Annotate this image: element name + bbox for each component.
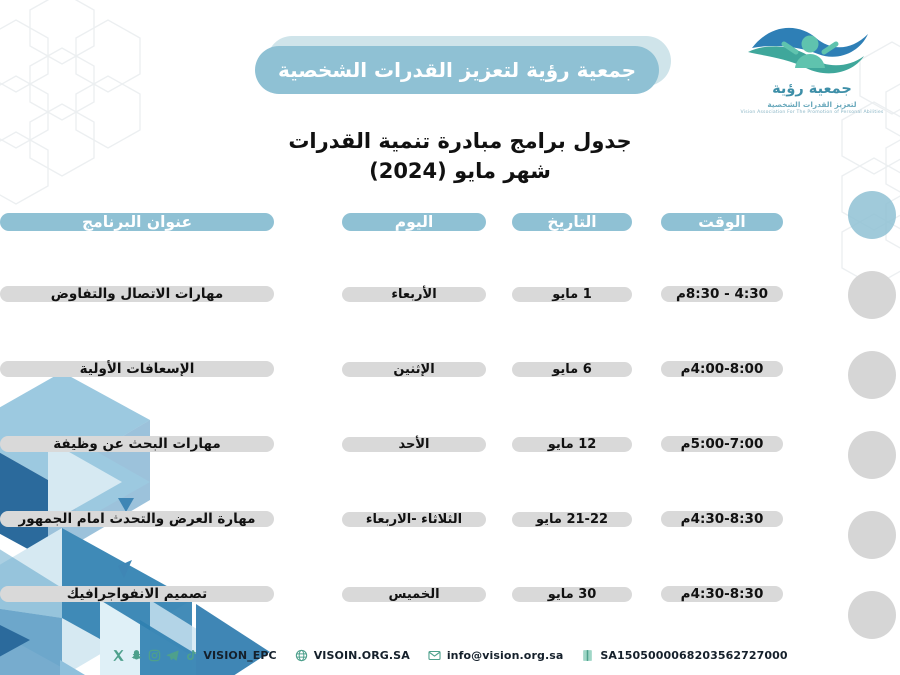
page-title-line1: جدول برامج مبادرة تنمية القدرات (160, 126, 760, 156)
cell-program: الإسعافات الأولية (0, 361, 274, 377)
hexagon-pattern-left (0, 0, 140, 204)
page-title-line2: شهر مايو (2024) (160, 156, 760, 186)
table-row: تصميم الانفواجرافيك الخميس 30 مايو 4:30-… (0, 568, 900, 620)
snapchat-icon[interactable] (130, 649, 143, 662)
cell-time: 5:00-7:00م (661, 436, 783, 452)
envelope-icon (428, 649, 441, 662)
column-header-day: اليوم (342, 213, 486, 231)
column-header-program: عنوان البرنامج (0, 213, 274, 231)
cell-program: مهارات الاتصال والتفاوض (0, 286, 274, 302)
social-group: VISION_EPC (112, 649, 276, 662)
cell-date: 12 مايو (512, 437, 632, 452)
logo-tagline-en: Vision Association For The Promotion of … (738, 110, 886, 116)
cell-date: 1 مايو (512, 287, 632, 302)
cell-time: 4:30 - 8:30م (661, 286, 783, 302)
vision-logo: جمعية رؤية لتعزيز القدرات الشخصية Vision… (738, 18, 886, 122)
cell-date: 21-22 مايو (512, 512, 632, 527)
globe-icon (295, 649, 308, 662)
cell-day: الإثنين (342, 362, 486, 377)
cell-date: 30 مايو (512, 587, 632, 602)
cell-time: 4:30-8:30م (661, 586, 783, 602)
cell-day: الأحد (342, 437, 486, 452)
cell-program: مهارة العرض والتحدث امام الجمهور (0, 511, 274, 527)
table-header-row: عنوان البرنامج اليوم التاريخ الوقت (0, 202, 900, 242)
cell-program: مهارات البحث عن وظيفة (0, 436, 274, 452)
table-row: مهارات البحث عن وظيفة الأحد 12 مايو 5:00… (0, 418, 900, 470)
iban-group: SA1505000068203562727000 (581, 649, 787, 662)
table-row: الإسعافات الأولية الإثنين 6 مايو 4:00-8:… (0, 343, 900, 395)
cell-day: الأربعاء (342, 287, 486, 302)
iban-text: SA1505000068203562727000 (600, 649, 787, 662)
website-text: VISOIN.ORG.SA (314, 649, 410, 662)
social-icons (112, 649, 197, 662)
logo-name-ar: جمعية رؤية (738, 81, 886, 98)
schedule-table: عنوان البرنامج اليوم التاريخ الوقت مهارا… (0, 202, 900, 643)
tiktok-icon[interactable] (184, 649, 197, 662)
logo-eye-icon (738, 18, 886, 76)
table-row: مهارات الاتصال والتفاوض الأربعاء 1 مايو … (0, 268, 900, 320)
website-group[interactable]: VISOIN.ORG.SA (295, 649, 410, 662)
email-text: info@vision.org.sa (447, 649, 564, 662)
instagram-icon[interactable] (148, 649, 161, 662)
infographic-canvas: جمعية رؤية لتعزيز القدرات الشخصية جمعية … (0, 0, 900, 675)
logo-tagline-ar: لتعزيز القدرات الشخصية (738, 100, 886, 110)
cell-day: الخميس (342, 587, 486, 602)
telegram-icon[interactable] (166, 649, 179, 662)
bank-icon (581, 649, 594, 662)
org-banner: جمعية رؤية لتعزيز القدرات الشخصية (255, 36, 675, 98)
cell-time: 4:00-8:00م (661, 361, 783, 377)
column-header-date: التاريخ (512, 213, 632, 231)
email-group[interactable]: info@vision.org.sa (428, 649, 564, 662)
cell-program: تصميم الانفواجرافيك (0, 586, 274, 602)
org-banner-label: جمعية رؤية لتعزيز القدرات الشخصية (255, 46, 659, 94)
table-row: مهارة العرض والتحدث امام الجمهور الثلاثا… (0, 493, 900, 545)
cell-date: 6 مايو (512, 362, 632, 377)
x-icon[interactable] (112, 649, 125, 662)
cell-day: الثلاثاء -الاربعاء (342, 512, 486, 527)
column-header-time: الوقت (661, 213, 783, 231)
footer-contact-bar: VISION_EPC VISOIN.ORG.SA info@vision.org… (0, 640, 900, 670)
cell-time: 4:30-8:30م (661, 511, 783, 527)
page-title: جدول برامج مبادرة تنمية القدرات شهر مايو… (160, 126, 760, 187)
social-handle: VISION_EPC (203, 649, 276, 662)
